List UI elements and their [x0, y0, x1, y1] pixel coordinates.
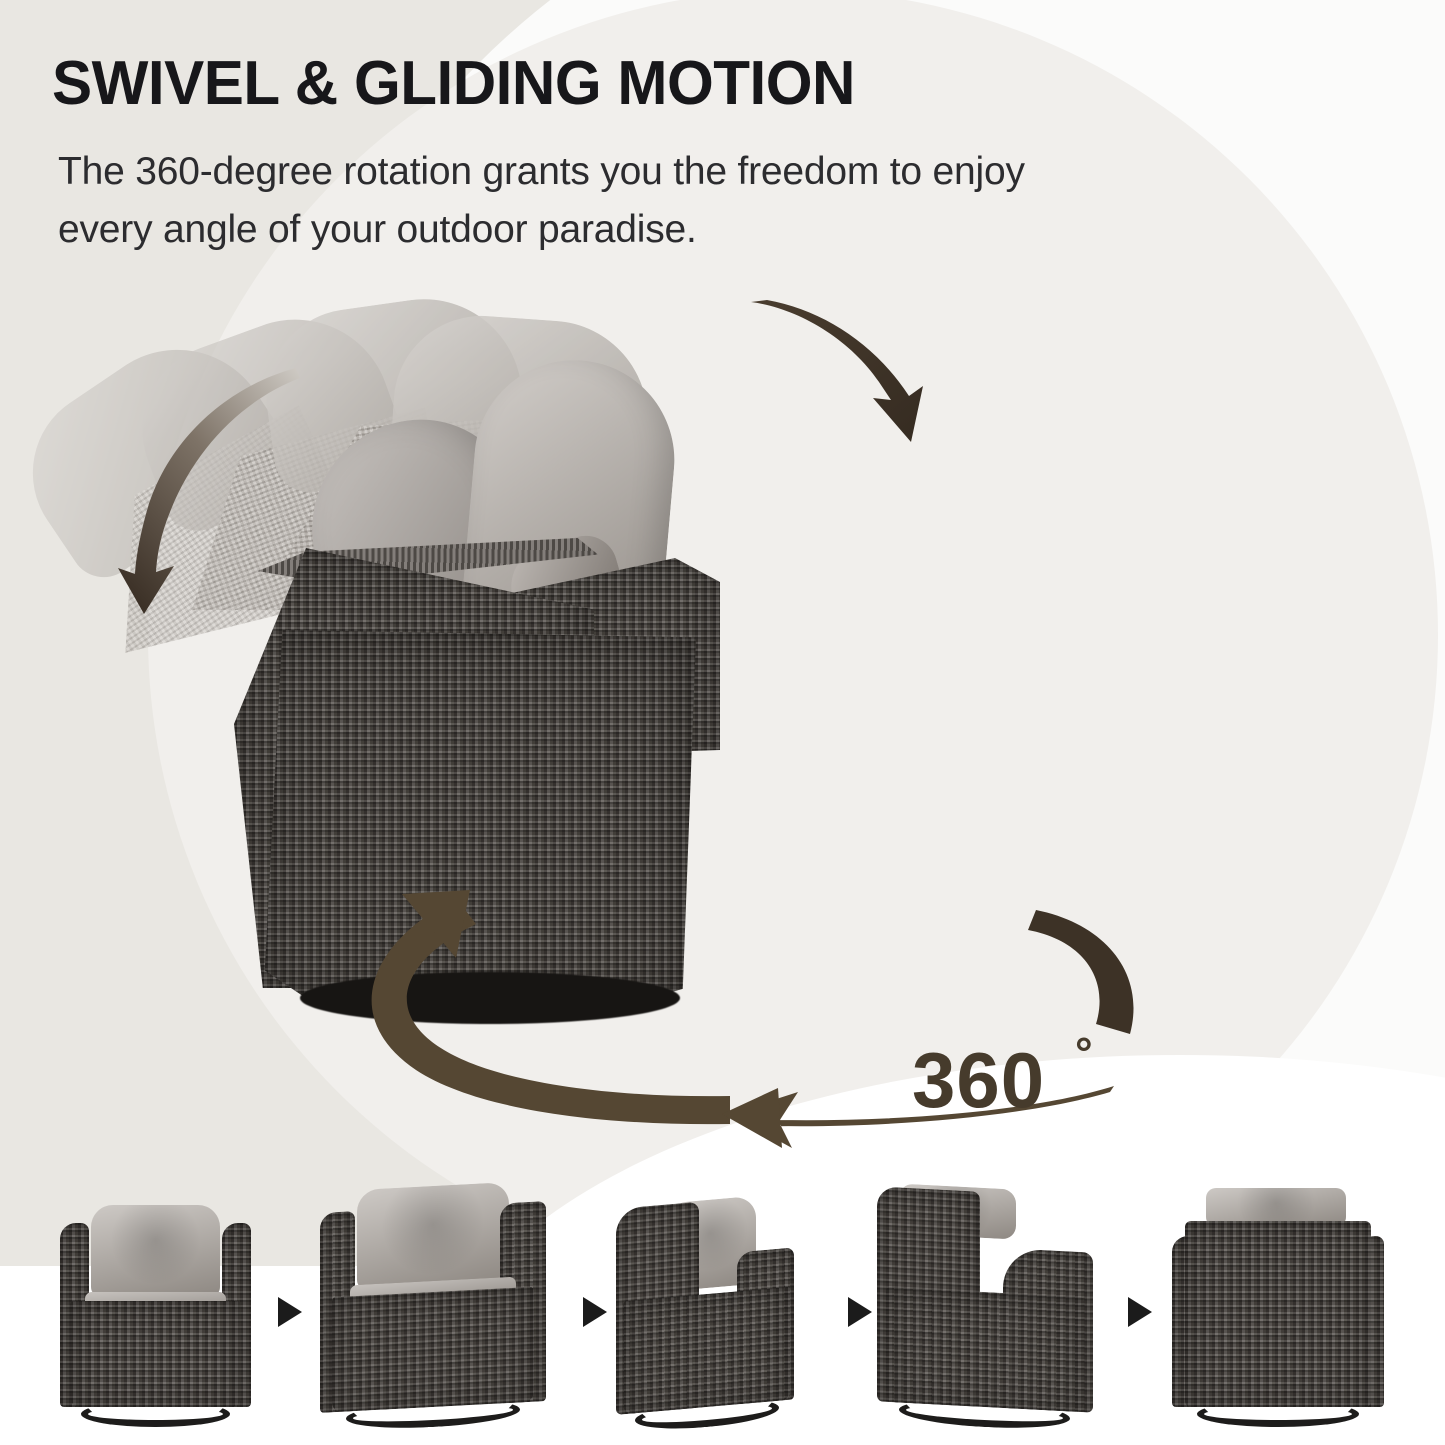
- thumb-swivel-base: [1197, 1401, 1358, 1427]
- thumb-side-view: [612, 1170, 802, 1432]
- list-item[interactable]: [612, 1178, 802, 1423]
- thumb-rear-view: [1172, 1178, 1384, 1423]
- list-item[interactable]: [58, 1193, 253, 1423]
- list-item[interactable]: [318, 1173, 548, 1423]
- thumb-back-cushion: [357, 1182, 509, 1290]
- promo-image-canvas: SWIVEL & GLIDING MOTION The 360-degree r…: [0, 0, 1445, 1445]
- thumb-front-view: [58, 1193, 253, 1423]
- thumb-body: [332, 1287, 534, 1413]
- page-subtitle: The 360-degree rotation grants you the f…: [58, 143, 1308, 259]
- triangle-right-icon: [278, 1297, 302, 1327]
- list-item[interactable]: [872, 1173, 1097, 1423]
- thumb-body: [886, 1287, 1084, 1412]
- thumb-back-cushion: [91, 1205, 220, 1297]
- thumb-body: [1185, 1221, 1372, 1407]
- thumb-rear-angle-view: [872, 1167, 1097, 1429]
- triangle-right-icon: [848, 1297, 872, 1327]
- page-title: SWIVEL & GLIDING MOTION: [52, 50, 855, 118]
- triangle-right-icon: [583, 1297, 607, 1327]
- list-item[interactable]: [1172, 1178, 1384, 1423]
- subtitle-line-2: every angle of your outdoor paradise.: [58, 201, 1308, 259]
- status-badge: 360: [912, 1041, 1045, 1119]
- thumb-body: [70, 1301, 242, 1407]
- degree-symbol: °: [1075, 1032, 1093, 1076]
- triangle-right-icon: [1128, 1297, 1152, 1327]
- thumb-swivel-base: [81, 1401, 229, 1427]
- thumb-front-angle-view: [318, 1167, 548, 1429]
- curved-arrow-down-left-icon: [78, 362, 308, 622]
- rotation-filmstrip: [0, 1160, 1445, 1445]
- thumb-body: [623, 1287, 790, 1414]
- curved-arrow-down-right-icon: [745, 300, 975, 450]
- subtitle-line-1: The 360-degree rotation grants you the f…: [58, 143, 1308, 201]
